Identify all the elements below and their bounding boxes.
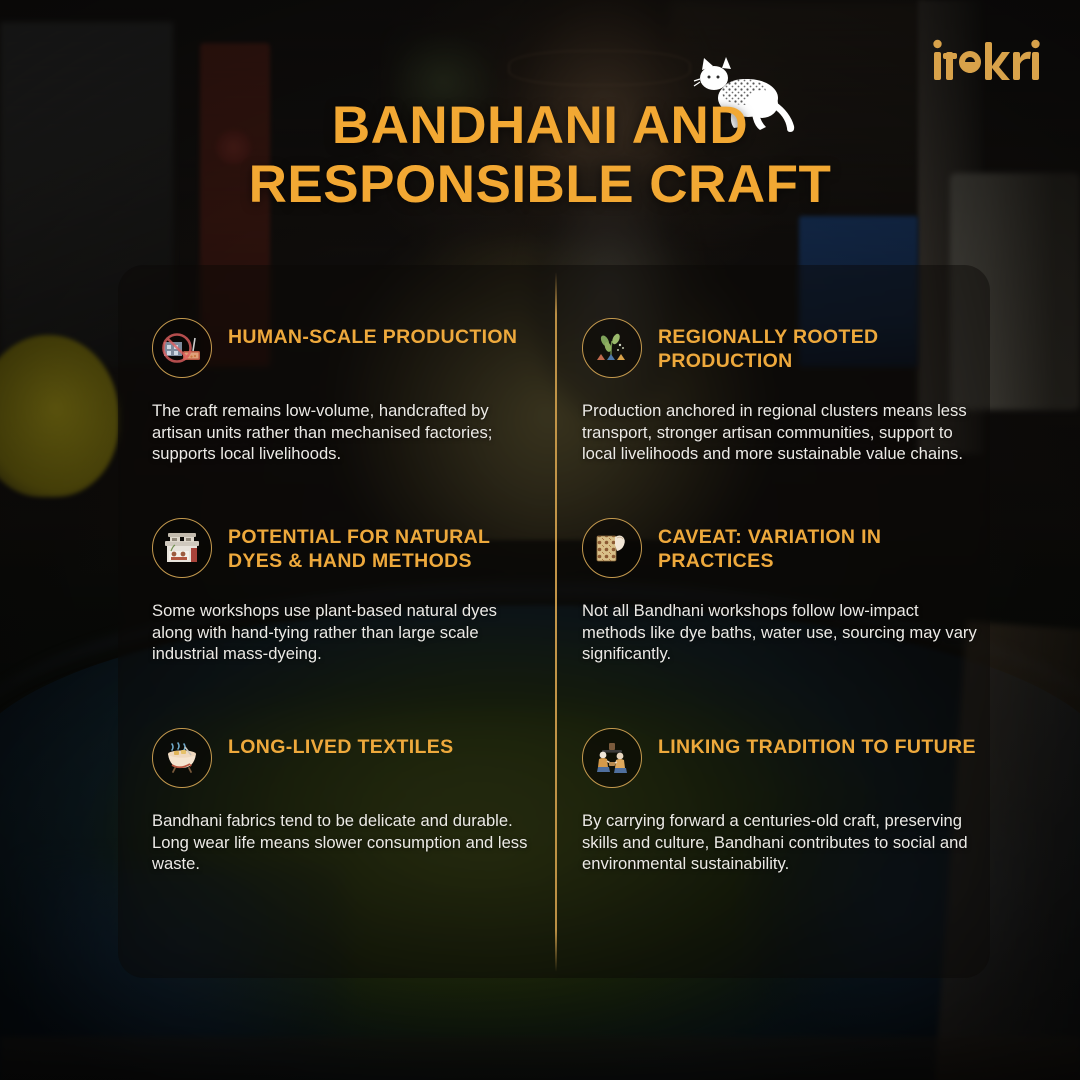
steaming-dye-pot-icon: [152, 728, 212, 788]
card-header: LONG-LIVED TEXTILES: [152, 728, 542, 788]
title-line-2: RESPONSIBLE CRAFT: [150, 155, 930, 214]
card-linking-tradition-to-future: LINKING TRADITION TO FUTURE By carrying …: [582, 728, 984, 875]
card-body: Not all Bandhani workshops follow low-im…: [582, 600, 984, 665]
title-line-1: BANDHANI AND: [150, 96, 930, 155]
card-header: CAVEAT: VARIATION IN PRACTICES: [582, 518, 984, 578]
card-human-scale-production: HUMAN-SCALE PRODUCTION The craft remains…: [152, 318, 542, 465]
card-title: CAVEAT: VARIATION IN PRACTICES: [658, 518, 978, 574]
workshop-building-icon: [152, 518, 212, 578]
card-header: REGIONALLY ROOTED PRODUCTION: [582, 318, 984, 378]
seedling-sprout-icon: [582, 318, 642, 378]
infographic-poster: BANDHANI AND RESPONSIBLE CRAFT: [0, 0, 1080, 1080]
card-potential-for-natural-dyes: POTENTIAL FOR NATURAL DYES & HAND METHOD…: [152, 518, 542, 665]
card-header: HUMAN-SCALE PRODUCTION: [152, 318, 542, 378]
two-artisans-icon: [582, 728, 642, 788]
no-factory-icon: [152, 318, 212, 378]
card-title: REGIONALLY ROOTED PRODUCTION: [658, 318, 978, 374]
card-caveat-variation-in-practices: CAVEAT: VARIATION IN PRACTICES Not all B…: [582, 518, 984, 665]
card-body: The craft remains low-volume, handcrafte…: [152, 400, 542, 465]
card-body: Production anchored in regional clusters…: [582, 400, 984, 465]
brand-logo[interactable]: [932, 38, 1040, 84]
card-header: LINKING TRADITION TO FUTURE: [582, 728, 984, 788]
card-body: Bandhani fabrics tend to be delicate and…: [152, 810, 542, 875]
card-title: LINKING TRADITION TO FUTURE: [658, 728, 978, 760]
card-regionally-rooted-production: REGIONALLY ROOTED PRODUCTION Production …: [582, 318, 984, 465]
page-title: BANDHANI AND RESPONSIBLE CRAFT: [0, 96, 1080, 215]
card-long-lived-textiles: LONG-LIVED TEXTILES Bandhani fabrics ten…: [152, 728, 542, 875]
column-divider: [555, 272, 557, 972]
itokri-wordmark-icon: [932, 38, 1040, 84]
hand-holding-fabric-icon: [582, 518, 642, 578]
card-title: LONG-LIVED TEXTILES: [228, 728, 528, 760]
card-title: HUMAN-SCALE PRODUCTION: [228, 318, 528, 350]
card-body: Some workshops use plant-based natural d…: [152, 600, 542, 665]
card-header: POTENTIAL FOR NATURAL DYES & HAND METHOD…: [152, 518, 542, 578]
card-body: By carrying forward a centuries-old craf…: [582, 810, 984, 875]
card-title: POTENTIAL FOR NATURAL DYES & HAND METHOD…: [228, 518, 528, 574]
